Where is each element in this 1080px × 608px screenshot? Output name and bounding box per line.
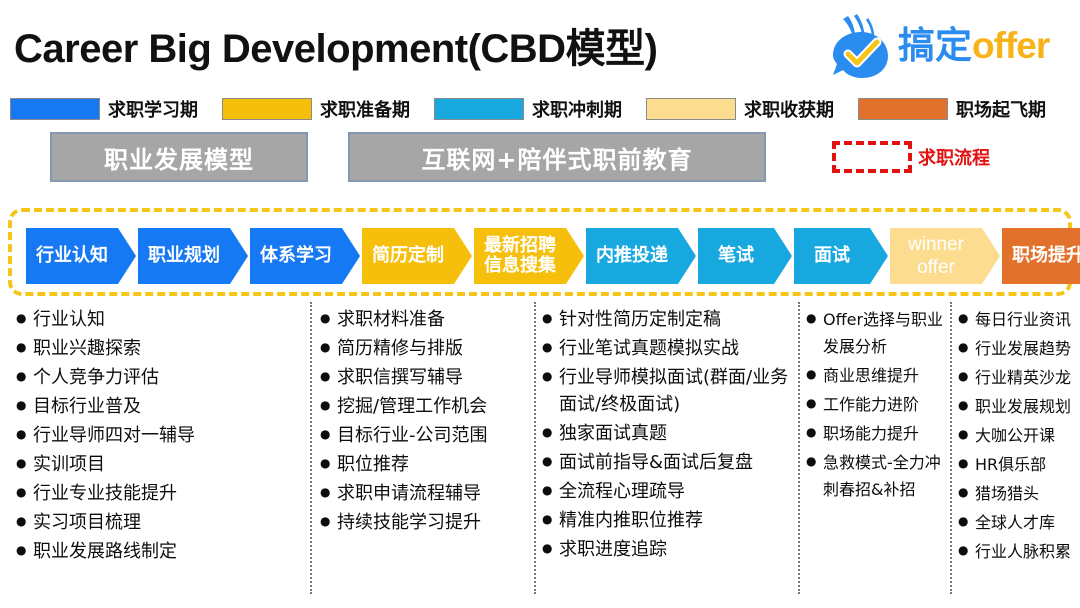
list-item: 求职进度追踪: [542, 536, 794, 563]
list-item: 实训项目: [16, 451, 302, 478]
flow-step-label-4: 简历定制: [362, 246, 472, 266]
job-flow-legend-swatch: [832, 141, 912, 173]
flow-step-label-10: 职场提升: [1002, 246, 1080, 266]
column-2: 求职材料准备简历精修与排版求职信撰写辅导挖掘/管理工作机会目标行业-公司范围职位…: [320, 300, 530, 608]
list-item: 行业专业技能提升: [16, 480, 302, 507]
list-item: 全流程心理疏导: [542, 478, 794, 505]
flow-step-1[interactable]: 行业认知: [26, 228, 136, 284]
list-item: 目标行业-公司范围: [320, 422, 530, 449]
header: Career Big Development(CBD模型) 搞定offer: [0, 0, 1080, 92]
list-item: 每日行业资讯: [958, 306, 1080, 333]
legend-swatch-4: [646, 98, 736, 120]
legend-item-4: 求职收获期: [646, 93, 834, 125]
phase-legend: 求职学习期求职准备期求职冲刺期求职收获期职场起飞期: [0, 93, 1080, 125]
list-item: 行业导师四对一辅导: [16, 422, 302, 449]
column-5-list: 每日行业资讯行业发展趋势行业精英沙龙职业发展规划大咖公开课HR俱乐部猎场猎头全球…: [958, 306, 1080, 565]
legend-item-3: 求职冲刺期: [434, 93, 622, 125]
list-item: 针对性简历定制定稿: [542, 306, 794, 333]
column-separator-1: [310, 302, 312, 594]
list-item: 个人竞争力评估: [16, 364, 302, 391]
flow-step-label-2: 职业规划: [138, 246, 248, 266]
list-item: 求职信撰写辅导: [320, 364, 530, 391]
list-item: 全球人才库: [958, 509, 1080, 536]
flow-step-2[interactable]: 职业规划: [138, 228, 248, 284]
list-item: 行业导师模拟面试(群面/业务面试/终极面试): [542, 364, 794, 418]
list-item: 挖掘/管理工作机会: [320, 393, 530, 420]
detail-columns: 行业认知职业兴趣探索个人竞争力评估目标行业普及行业导师四对一辅导实训项目行业专业…: [0, 300, 1080, 608]
list-item: 工作能力进阶: [806, 391, 946, 418]
column-separator-4: [950, 302, 952, 594]
flow-step-6[interactable]: 内推投递: [586, 228, 696, 284]
job-flow-legend-label: 求职流程: [918, 144, 990, 170]
column-1-list: 行业认知职业兴趣探索个人竞争力评估目标行业普及行业导师四对一辅导实训项目行业专业…: [16, 306, 302, 565]
flow-step-10[interactable]: 职场提升: [1002, 228, 1080, 284]
list-item: 独家面试真题: [542, 420, 794, 447]
logo-text-cn: 搞定: [898, 25, 972, 66]
legend-item-2: 求职准备期: [222, 93, 410, 125]
flow-step-label-5: 最新招聘 信息搜集: [474, 236, 584, 276]
list-item: 职业发展规划: [958, 393, 1080, 420]
legend-swatch-3: [434, 98, 524, 120]
list-item: 职场能力提升: [806, 420, 946, 447]
list-item: 职业发展路线制定: [16, 538, 302, 565]
flow-step-9[interactable]: winner offer: [890, 228, 1000, 284]
flow-step-8[interactable]: 面试: [794, 228, 888, 284]
flow-step-label-3: 体系学习: [250, 246, 360, 266]
job-flow-steps: 行业认知职业规划体系学习简历定制最新招聘 信息搜集内推投递笔试面试winner …: [12, 212, 1076, 300]
column-separator-2: [534, 302, 536, 594]
legend-label-2: 求职准备期: [320, 96, 410, 122]
banner-row: 互联网+陪伴式职前教育职业发展模型 求职流程: [0, 132, 1080, 190]
legend-label-4: 求职收获期: [744, 96, 834, 122]
list-item: 行业精英沙龙: [958, 364, 1080, 391]
banner-box-2: 互联网+陪伴式职前教育: [348, 132, 766, 182]
list-item: Offer选择与职业发展分析: [806, 306, 946, 360]
list-item: 面试前指导&面试后复盘: [542, 449, 794, 476]
job-flow-legend: 求职流程: [832, 136, 990, 178]
legend-label-3: 求职冲刺期: [532, 96, 622, 122]
flow-step-4[interactable]: 简历定制: [362, 228, 472, 284]
list-item: 行业发展趋势: [958, 335, 1080, 362]
job-flow-container: 行业认知职业规划体系学习简历定制最新招聘 信息搜集内推投递笔试面试winner …: [8, 208, 1072, 296]
flow-step-label-1: 行业认知: [26, 246, 136, 266]
legend-label-5: 职场起飞期: [956, 96, 1046, 122]
list-item: 大咖公开课: [958, 422, 1080, 449]
column-4-list: Offer选择与职业发展分析商业思维提升工作能力进阶职场能力提升急救模式-全力冲…: [806, 306, 946, 503]
page-title: Career Big Development(CBD模型): [14, 16, 657, 74]
legend-item-5: 职场起飞期: [858, 93, 1046, 125]
legend-item-1: 求职学习期: [10, 93, 198, 125]
flow-step-3[interactable]: 体系学习: [250, 228, 360, 284]
list-item: 商业思维提升: [806, 362, 946, 389]
column-separator-3: [798, 302, 800, 594]
flow-step-label-7: 笔试: [698, 246, 792, 266]
column-3: 针对性简历定制定稿行业笔试真题模拟实战行业导师模拟面试(群面/业务面试/终极面试…: [542, 300, 794, 608]
legend-swatch-5: [858, 98, 948, 120]
list-item: 持续技能学习提升: [320, 509, 530, 536]
legend-swatch-2: [222, 98, 312, 120]
flow-step-label-8: 面试: [794, 246, 888, 266]
list-item: 行业笔试真题模拟实战: [542, 335, 794, 362]
gaoding-offer-logo-mark-icon: [828, 12, 894, 80]
cbd-model-infographic: Career Big Development(CBD模型) 搞定offer 求职…: [0, 0, 1080, 608]
list-item: 猎场猎头: [958, 480, 1080, 507]
list-item: 职位推荐: [320, 451, 530, 478]
column-2-list: 求职材料准备简历精修与排版求职信撰写辅导挖掘/管理工作机会目标行业-公司范围职位…: [320, 306, 530, 536]
flow-step-7[interactable]: 笔试: [698, 228, 792, 284]
flow-step-label-9: winner offer: [890, 233, 1000, 279]
banner-box-1: 职业发展模型: [50, 132, 308, 182]
list-item: 精准内推职位推荐: [542, 507, 794, 534]
column-1: 行业认知职业兴趣探索个人竞争力评估目标行业普及行业导师四对一辅导实训项目行业专业…: [16, 300, 302, 608]
list-item: 急救模式-全力冲刺春招&补招: [806, 449, 946, 503]
brand-logo: 搞定offer: [828, 10, 1076, 82]
list-item: 行业人脉积累: [958, 538, 1080, 565]
list-item: 求职申请流程辅导: [320, 480, 530, 507]
list-item: 职业兴趣探索: [16, 335, 302, 362]
logo-wordmark: 搞定offer: [898, 24, 1049, 68]
list-item: 简历精修与排版: [320, 335, 530, 362]
list-item: 实习项目梳理: [16, 509, 302, 536]
legend-label-1: 求职学习期: [108, 96, 198, 122]
list-item: HR俱乐部: [958, 451, 1080, 478]
flow-step-5[interactable]: 最新招聘 信息搜集: [474, 228, 584, 284]
list-item: 行业认知: [16, 306, 302, 333]
logo-text-en: offer: [972, 25, 1049, 66]
column-4: Offer选择与职业发展分析商业思维提升工作能力进阶职场能力提升急救模式-全力冲…: [806, 300, 946, 608]
legend-swatch-1: [10, 98, 100, 120]
list-item: 目标行业普及: [16, 393, 302, 420]
column-5: 每日行业资讯行业发展趋势行业精英沙龙职业发展规划大咖公开课HR俱乐部猎场猎头全球…: [958, 300, 1080, 608]
flow-step-label-6: 内推投递: [586, 246, 696, 266]
list-item: 求职材料准备: [320, 306, 530, 333]
column-3-list: 针对性简历定制定稿行业笔试真题模拟实战行业导师模拟面试(群面/业务面试/终极面试…: [542, 306, 794, 563]
